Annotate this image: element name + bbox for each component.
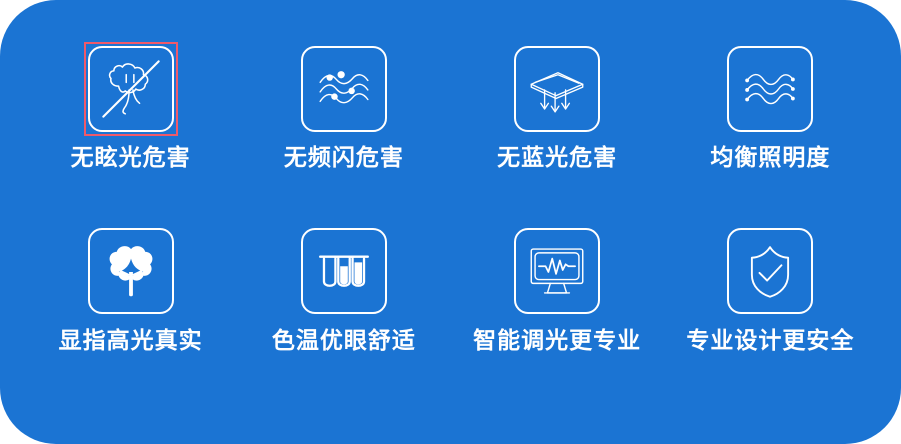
feature-label-even-illuminance: 均衡照明度 [710, 146, 830, 169]
icon-tile-smart-dimming[interactable] [514, 228, 600, 314]
feature-label-no-blue-light: 无蓝光危害 [497, 146, 617, 169]
feature-label-safe-design: 专业设计更安全 [686, 329, 854, 352]
icon-tile-color-temperature[interactable] [301, 228, 387, 314]
feature-cell-no-glare[interactable]: 无眩光危害 [24, 46, 237, 228]
feature-label-color-temperature: 色温优眼舒适 [272, 329, 416, 352]
flicker-waves-dots-icon [303, 46, 385, 132]
icon-tile-no-flicker[interactable] [301, 46, 387, 132]
tree-glare-blocked-icon [90, 46, 172, 132]
feature-label-smart-dimming: 智能调光更专业 [473, 329, 641, 352]
smooth-waves-icon [729, 46, 811, 132]
feature-cell-safe-design[interactable]: 专业设计更安全 [664, 228, 877, 410]
test-tubes-icon [303, 228, 385, 314]
icon-tile-wrap-smart-dimming[interactable] [514, 228, 600, 314]
feature-cell-even-illuminance[interactable]: 均衡照明度 [664, 46, 877, 228]
feature-cell-high-cri[interactable]: 显指高光真实 [24, 228, 237, 410]
feature-cell-no-flicker[interactable]: 无频闪危害 [237, 46, 450, 228]
feature-cell-no-blue-light[interactable]: 无蓝光危害 [451, 46, 664, 228]
cotton-flower-icon [90, 228, 172, 314]
feature-cell-color-temperature[interactable]: 色温优眼舒适 [237, 228, 450, 410]
feature-label-no-flicker: 无频闪危害 [284, 146, 404, 169]
monitor-waveform-icon [516, 228, 598, 314]
panel-downlight-arrows-icon [516, 46, 598, 132]
feature-label-high-cri: 显指高光真实 [59, 329, 203, 352]
icon-tile-wrap-no-glare[interactable] [88, 46, 174, 132]
feature-cell-smart-dimming[interactable]: 智能调光更专业 [451, 228, 664, 410]
icon-tile-wrap-no-flicker[interactable] [301, 46, 387, 132]
icon-tile-even-illuminance[interactable] [727, 46, 813, 132]
icon-tile-safe-design[interactable] [727, 228, 813, 314]
shield-check-icon [729, 228, 811, 314]
icon-tile-wrap-even-illuminance[interactable] [727, 46, 813, 132]
icon-tile-no-blue-light[interactable] [514, 46, 600, 132]
icon-tile-wrap-color-temperature[interactable] [301, 228, 387, 314]
icon-tile-no-glare[interactable] [88, 46, 174, 132]
feature-label-no-glare: 无眩光危害 [71, 146, 191, 169]
icon-tile-wrap-high-cri[interactable] [88, 228, 174, 314]
icon-tile-wrap-no-blue-light[interactable] [514, 46, 600, 132]
feature-panel: 无眩光危害 [0, 0, 901, 444]
feature-grid: 无眩光危害 [0, 0, 901, 444]
icon-tile-wrap-safe-design[interactable] [727, 228, 813, 314]
icon-tile-high-cri[interactable] [88, 228, 174, 314]
